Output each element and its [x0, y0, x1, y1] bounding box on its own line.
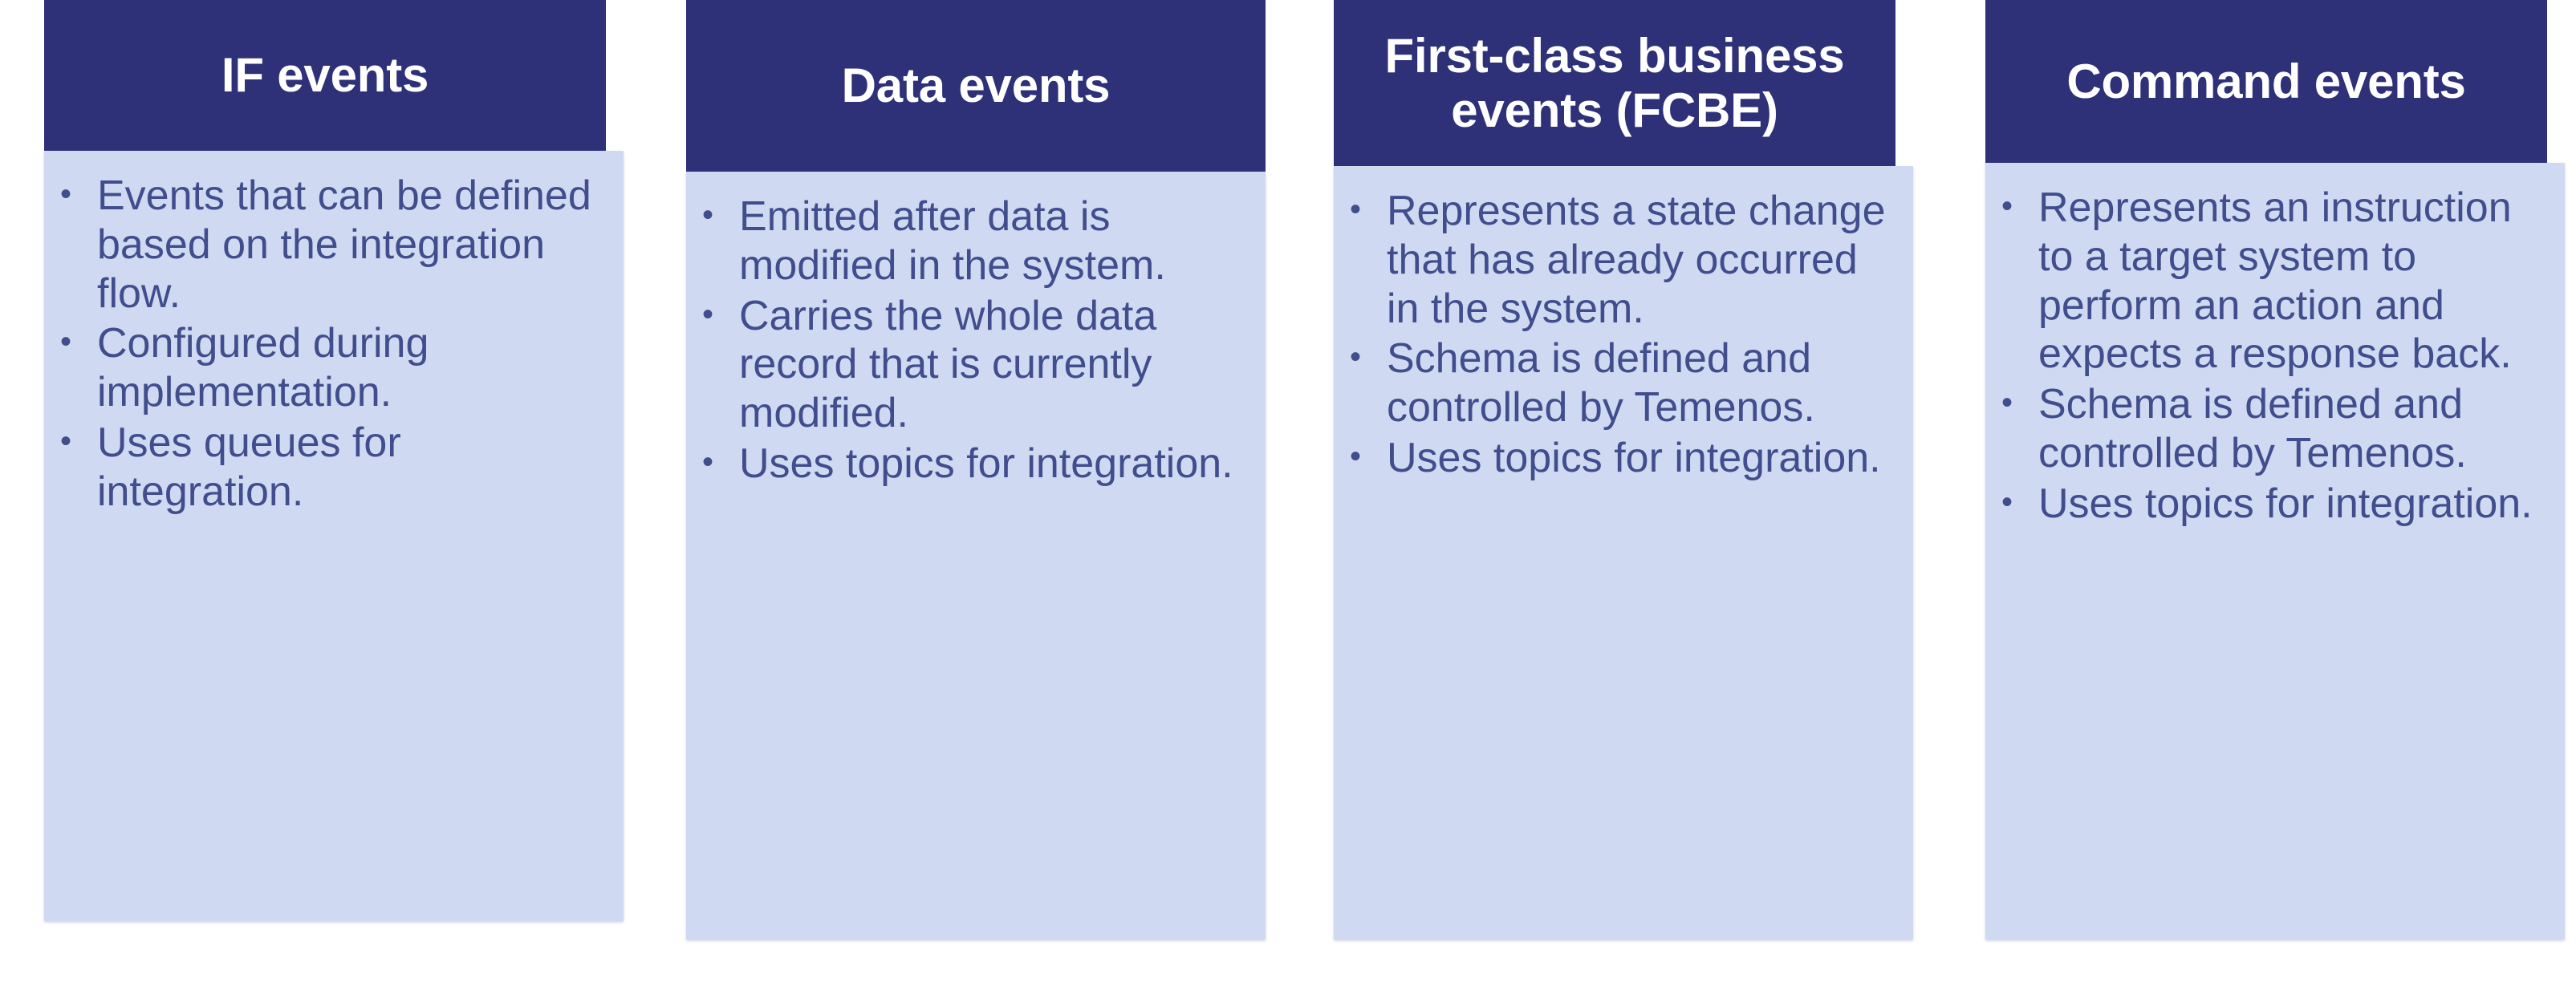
- bullet-point-icon: •: [60, 319, 97, 365]
- card-header-if-events: IF events: [44, 0, 606, 151]
- bullet-point-icon: •: [60, 419, 97, 464]
- list-item: • Configured during implementation.: [60, 319, 606, 417]
- bullet-list-first-class-business-events: • Represents a state change that has alr…: [1350, 187, 1895, 483]
- bullet-list-if-events: • Events that can be defined based on th…: [60, 172, 606, 517]
- bullet-list-data-events: • Emitted after data is modified in the …: [702, 193, 1248, 488]
- bullet-text: Carries the whole data record that is cu…: [739, 292, 1248, 438]
- list-item: • Events that can be defined based on th…: [60, 172, 606, 318]
- list-item: • Uses topics for integration.: [2001, 480, 2547, 529]
- list-item: • Carries the whole data record that is …: [702, 292, 1248, 438]
- bullet-point-icon: •: [2001, 184, 2038, 229]
- event-types-comparison-board: IF events • Events that can be defined b…: [0, 0, 2576, 997]
- card-body-command-events: • Represents an instruction to a target …: [1985, 163, 2565, 939]
- bullet-text: Uses topics for integration.: [1387, 434, 1895, 483]
- event-type-card-first-class-business-events: First-class business events (FCBE) • Rep…: [1334, 0, 1913, 939]
- bullet-text: Schema is defined and controlled by Teme…: [2038, 380, 2547, 478]
- card-header-command-events: Command events: [1985, 0, 2547, 163]
- card-body-first-class-business-events: • Represents a state change that has alr…: [1334, 166, 1913, 939]
- bullet-point-icon: •: [2001, 380, 2038, 426]
- card-header-data-events: Data events: [686, 0, 1266, 172]
- event-type-card-command-events: Command events • Represents an instructi…: [1985, 0, 2565, 939]
- bullet-point-icon: •: [60, 172, 97, 217]
- bullet-point-icon: •: [1350, 434, 1387, 480]
- bullet-text: Represents an instruction to a target sy…: [2038, 184, 2547, 379]
- bullet-text: Configured during implementation.: [97, 319, 606, 417]
- bullet-text: Uses topics for integration.: [2038, 480, 2547, 529]
- bullet-point-icon: •: [702, 292, 739, 338]
- event-type-card-data-events: Data events • Emitted after data is modi…: [686, 0, 1266, 939]
- event-type-card-if-events: IF events • Events that can be defined b…: [44, 0, 624, 921]
- bullet-text: Emitted after data is modified in the sy…: [739, 193, 1248, 290]
- card-header-first-class-business-events: First-class business events (FCBE): [1334, 0, 1895, 166]
- bullet-point-icon: •: [702, 440, 739, 485]
- bullet-text: Uses topics for integration.: [739, 440, 1248, 488]
- bullet-point-icon: •: [2001, 480, 2038, 525]
- list-item: • Represents an instruction to a target …: [2001, 184, 2547, 379]
- bullet-text: Schema is defined and controlled by Teme…: [1387, 334, 1895, 432]
- list-item: • Schema is defined and controlled by Te…: [2001, 380, 2547, 478]
- list-item: • Uses queues for integration.: [60, 419, 606, 517]
- list-item: • Uses topics for integration.: [702, 440, 1248, 488]
- bullet-point-icon: •: [1350, 334, 1387, 380]
- bullet-text: Events that can be defined based on the …: [97, 172, 606, 318]
- list-item: • Uses topics for integration.: [1350, 434, 1895, 483]
- bullet-list-command-events: • Represents an instruction to a target …: [2001, 184, 2547, 529]
- card-body-data-events: • Emitted after data is modified in the …: [686, 172, 1266, 939]
- bullet-text: Uses queues for integration.: [97, 419, 606, 517]
- list-item: • Schema is defined and controlled by Te…: [1350, 334, 1895, 432]
- list-item: • Emitted after data is modified in the …: [702, 193, 1248, 290]
- bullet-text: Represents a state change that has alrea…: [1387, 187, 1895, 333]
- bullet-point-icon: •: [702, 193, 739, 238]
- card-body-if-events: • Events that can be defined based on th…: [44, 151, 624, 921]
- list-item: • Represents a state change that has alr…: [1350, 187, 1895, 333]
- bullet-point-icon: •: [1350, 187, 1387, 233]
